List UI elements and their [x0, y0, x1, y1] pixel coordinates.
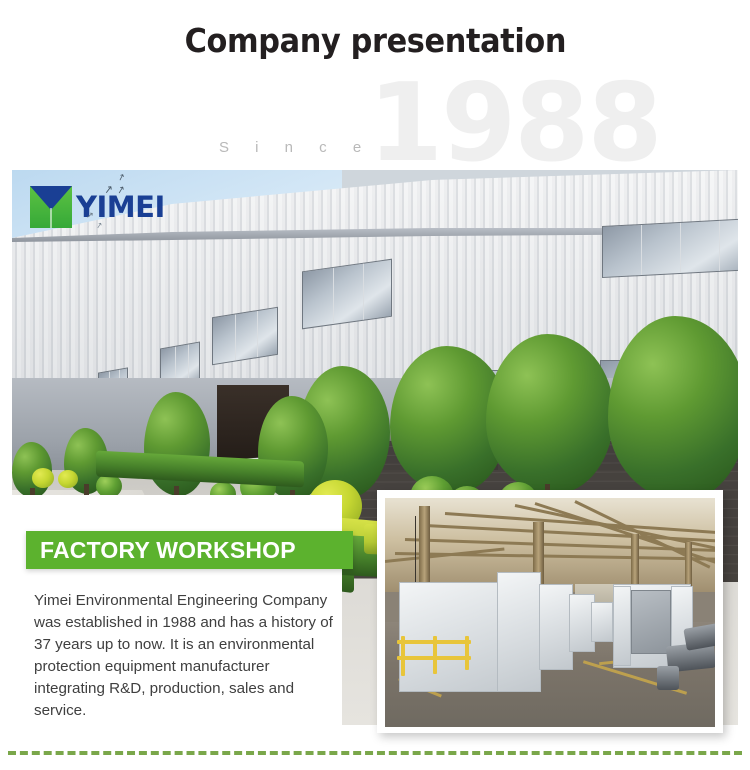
page-title: Company presentation: [184, 21, 566, 60]
bottom-dashed-divider: [8, 751, 742, 755]
safety-rail: [465, 636, 469, 670]
equipment-unit: [497, 572, 541, 692]
safety-rail: [401, 636, 405, 676]
equipment-unit: [539, 584, 573, 670]
roof-column: [419, 506, 430, 584]
bird-icon: ↗: [103, 183, 114, 195]
workshop-inset-frame: [377, 490, 723, 733]
factory-workshop-banner-label: FACTORY WORKSHOP: [40, 537, 296, 564]
tree: [486, 334, 614, 494]
yimei-y-logo-icon: [30, 186, 72, 228]
factory-workshop-banner: FACTORY WORKSHOP: [26, 531, 353, 569]
cabinet-door: [613, 586, 631, 666]
tree: [608, 316, 738, 501]
safety-rail: [433, 636, 437, 674]
workshop-interior-photo: [385, 498, 715, 727]
shrub: [58, 470, 78, 488]
watermark-since-label: S i n c e: [219, 139, 372, 156]
bird-icon: ↗: [95, 221, 103, 230]
cabinet-interior: [631, 590, 671, 654]
about-description: Yimei Environmental Engineering Company …: [34, 590, 334, 722]
parked-motorbike: [657, 666, 679, 690]
window-band: [602, 218, 738, 278]
bird-icon: ↗: [86, 212, 94, 222]
equipment-unit: [591, 602, 613, 642]
parked-motorbike: [683, 623, 715, 651]
shrub: [32, 468, 54, 488]
page-header: Company presentation: [0, 0, 750, 80]
watermark-year: 1988: [368, 78, 661, 178]
